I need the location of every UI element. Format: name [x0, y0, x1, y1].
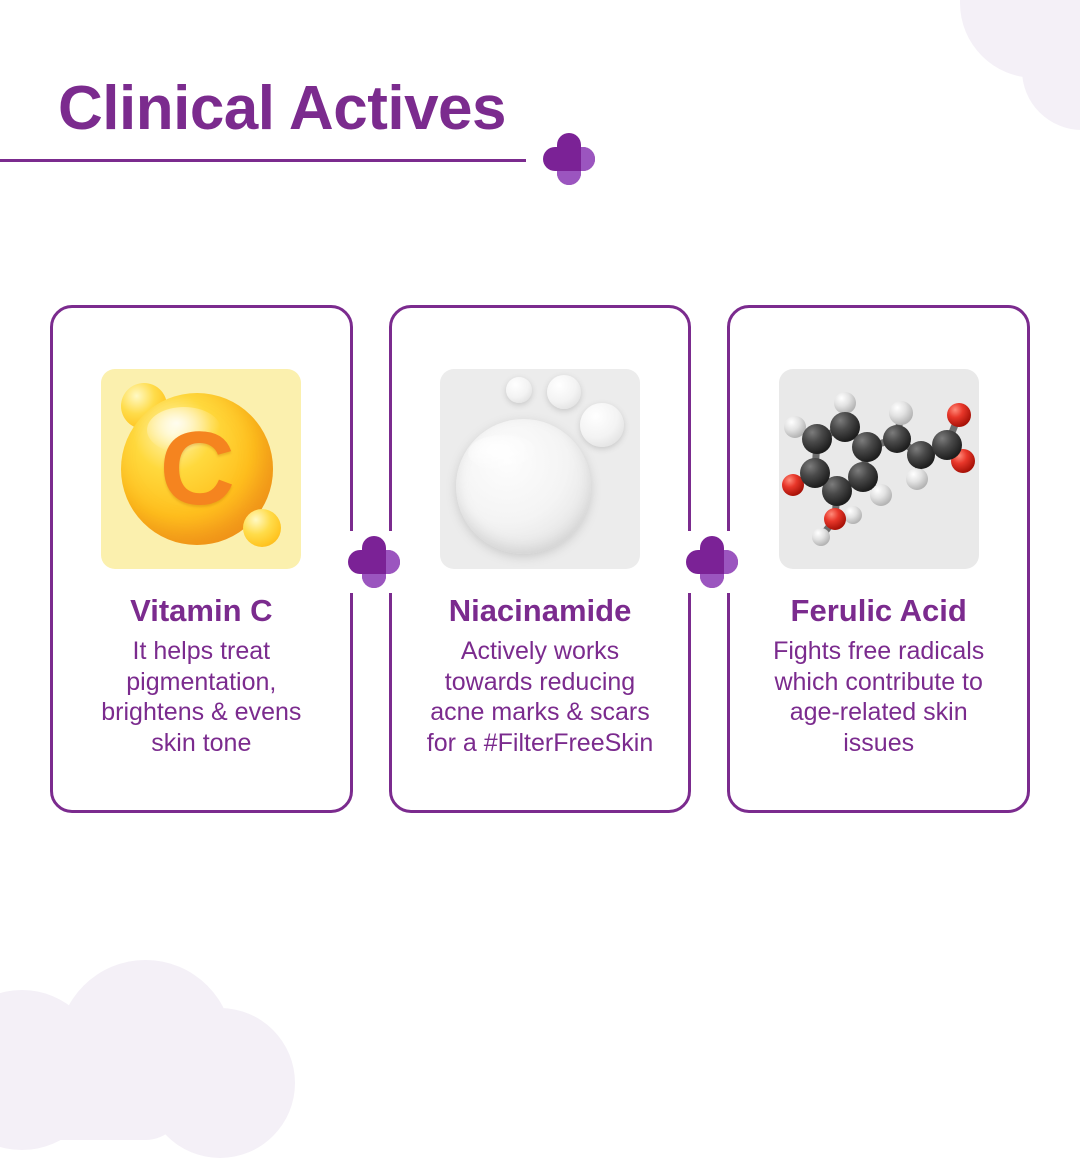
card-description-vitamin-c: It helps treat pigmentation, brightens &…	[89, 636, 313, 758]
niacinamide-gel-image	[440, 369, 640, 569]
gel-droplet-large	[580, 403, 624, 447]
title-divider	[0, 159, 526, 162]
vitamin-c-droplet-image: C	[101, 369, 301, 569]
bottom-left-blob-2	[145, 1008, 295, 1158]
card-title-vitamin-c: Vitamin C	[130, 594, 272, 628]
plus-badge-icon	[543, 133, 595, 185]
top-right-blob-2	[1022, 10, 1080, 130]
card-description-niacinamide: Actively works towards reducing acne mar…	[415, 636, 665, 758]
card-ferulic-acid[interactable]: Ferulic Acid Fights free radicals which …	[727, 305, 1030, 813]
vitamin-c-bubble-small-bottom	[243, 509, 281, 547]
actives-card-list: C Vitamin C It helps treat pigmentation,…	[50, 305, 1030, 813]
card-niacinamide[interactable]: Niacinamide Actively works towards reduc…	[389, 305, 692, 813]
card-title-niacinamide: Niacinamide	[449, 594, 632, 628]
ferulic-acid-molecule-image	[779, 369, 979, 569]
bottom-left-blob-3	[0, 990, 102, 1150]
gel-droplet-medium	[547, 375, 581, 409]
gel-droplet-small	[506, 377, 532, 403]
card-description-ferulic-acid: Fights free radicals which contribute to…	[761, 636, 996, 758]
molecule-diagram	[779, 369, 979, 569]
page-title: Clinical Actives	[58, 78, 506, 140]
bottom-left-blob-base	[0, 1010, 185, 1140]
connector-plus-icon-1	[329, 531, 419, 593]
gel-droplet-main	[456, 419, 591, 554]
top-right-blob-1	[960, 0, 1080, 78]
card-title-ferulic-acid: Ferulic Acid	[791, 594, 967, 628]
card-vitamin-c[interactable]: C Vitamin C It helps treat pigmentation,…	[50, 305, 353, 813]
bottom-left-blob-1	[58, 960, 233, 1135]
connector-plus-icon-2	[667, 531, 757, 593]
